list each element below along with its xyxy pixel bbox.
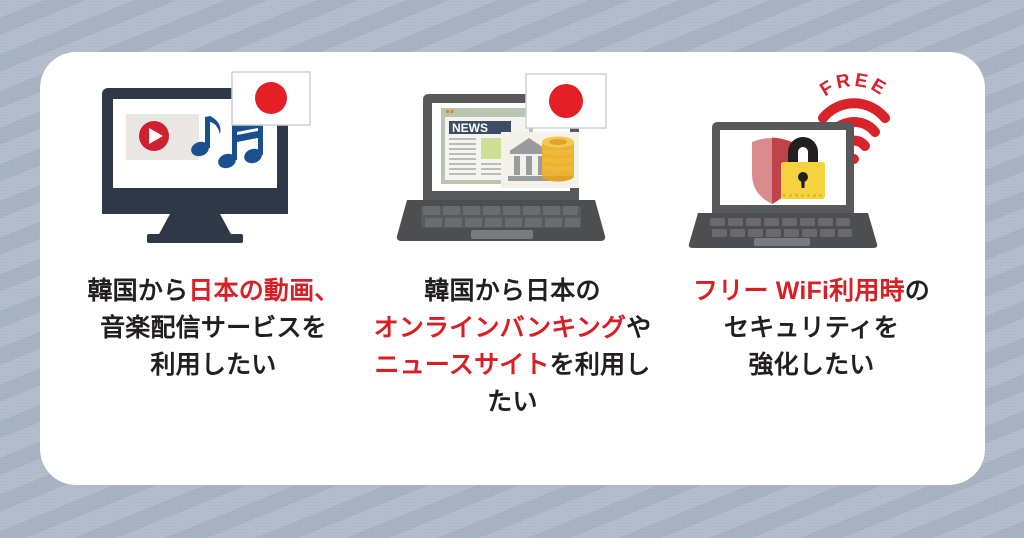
svg-text:FREE: FREE — [816, 70, 891, 101]
caption-wifi-security: フリー WiFi利用時の セキュリティを 強化したい — [693, 273, 930, 384]
video-thumbnail-icon — [126, 114, 199, 160]
illustration-desktop-monitor-video-music — [84, 70, 344, 255]
japan-flag-icon — [526, 74, 606, 128]
free-wifi-label: FREE — [816, 70, 891, 101]
japan-flag-icon — [232, 72, 310, 125]
caption-seg: や — [626, 314, 651, 342]
caption-seg: 音楽配信サービスを — [100, 314, 327, 342]
bank-coins-icon — [501, 132, 579, 188]
caption-line: 利用したい — [87, 347, 339, 384]
caption-seg: 強化したい — [748, 351, 874, 379]
caption-seg: 利用したい — [150, 351, 276, 379]
news-label: NEWS — [452, 121, 488, 135]
caption-banking-news: 韓国から日本の オンラインバンキングや ニュースサイトを利用したい — [363, 273, 662, 421]
caption-seg: の — [905, 277, 930, 305]
caption-line: 音楽配信サービスを — [87, 310, 339, 347]
caption-line: ニュースサイトを利用したい — [363, 347, 662, 421]
feature-column-video-music: 韓国から日本の動画、 音楽配信サービスを 利用したい — [64, 70, 363, 384]
caption-line: セキュリティを — [693, 310, 930, 347]
caption-line: 韓国から日本の — [363, 273, 662, 310]
caption-seg: 韓国から日本の — [424, 277, 600, 305]
feature-column-banking-news: NEWS — [363, 70, 662, 421]
coin-stack-icon — [542, 137, 574, 182]
caption-video-music: 韓国から日本の動画、 音楽配信サービスを 利用したい — [87, 273, 339, 384]
caption-line: フリー WiFi利用時の — [693, 273, 930, 310]
caption-seg: 韓国から — [87, 277, 188, 305]
caption-seg-accent: 日本の動画、 — [188, 277, 339, 305]
caption-line: 強化したい — [693, 347, 930, 384]
content-card: 韓国から日本の動画、 音楽配信サービスを 利用したい — [40, 52, 985, 485]
illustration-laptop-news-banking: NEWS — [383, 70, 643, 255]
caption-line: 韓国から日本の動画、 — [87, 273, 339, 310]
caption-seg-accent: オンラインバンキング — [374, 314, 627, 342]
caption-seg: セキュリティを — [724, 314, 899, 342]
caption-seg-accent: ニュースサイト — [375, 351, 550, 379]
feature-columns: 韓国から日本の動画、 音楽配信サービスを 利用したい — [40, 52, 985, 485]
illustration-laptop-shield-lock-free-wifi: FREE — [682, 70, 942, 255]
feature-column-wifi-security: FREE — [662, 70, 961, 384]
caption-seg-accent: フリー WiFi利用時 — [693, 277, 905, 305]
caption-line: オンラインバンキングや — [363, 310, 662, 347]
